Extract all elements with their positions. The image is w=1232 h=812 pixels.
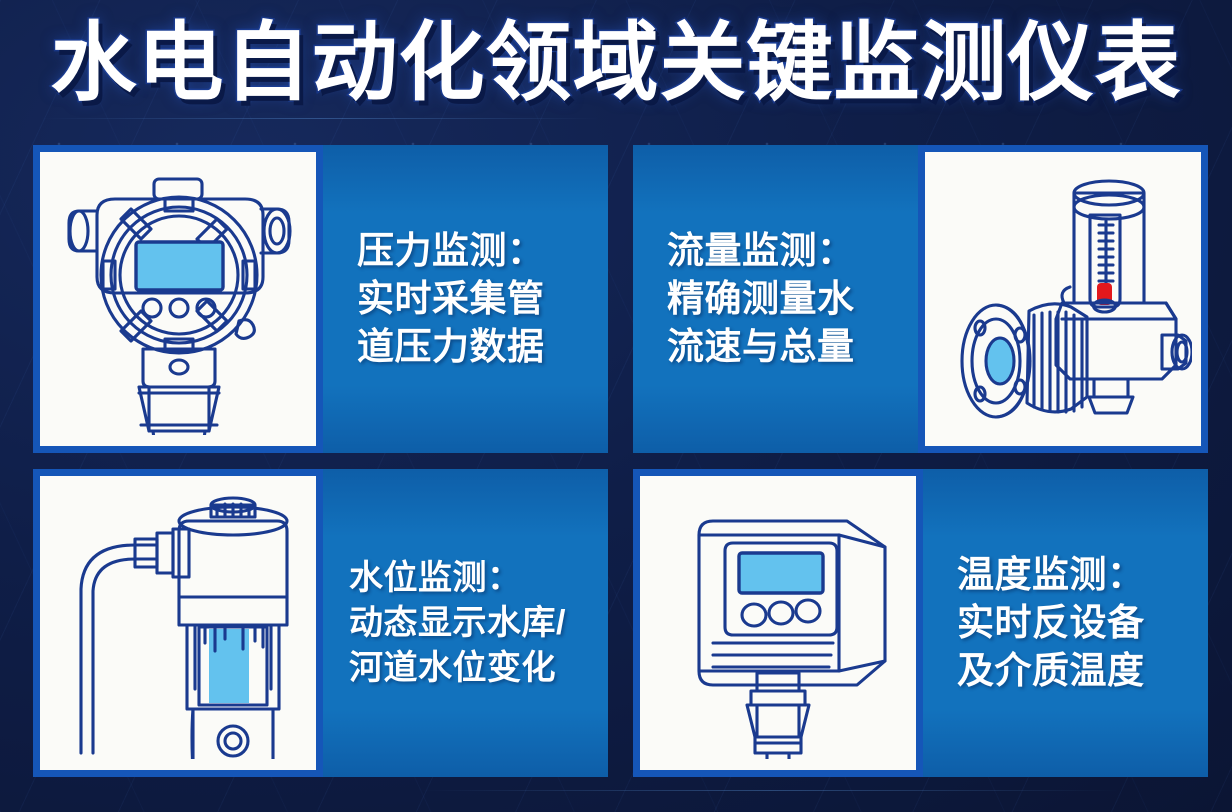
card-line: 及介质温度 [957,647,1198,695]
text-pane-flow: 流量监测： 精确测量水 流速与总量 [633,145,918,453]
background-glow-line-bottom [420,790,1120,791]
infographic-root: 水电自动化领域关键监测仪表 [0,0,1232,812]
card-flow[interactable]: 流量监测： 精确测量水 流速与总量 [633,145,1208,453]
icon-pane-temperature [633,469,923,777]
card-pressure[interactable]: 压力监测： 实时采集管 道压力数据 [33,145,608,453]
card-water-level[interactable]: 水位监测： 动态显示水库/ 河道水位变化 [33,469,608,777]
pressure-transmitter-icon [53,163,303,435]
cards-grid: 压力监测： 实时采集管 道压力数据 流量监测： 精确测量水 流速与总量 [33,145,1208,777]
title-banner: 水电自动化领域关键监测仪表 [0,4,1232,122]
card-line: 河道水位变化 [349,646,598,691]
card-line: 流速与总量 [667,323,908,371]
temperature-transmitter-icon [653,487,903,759]
text-pane-pressure: 压力监测： 实时采集管 道压力数据 [323,145,608,453]
flow-meter-icon [934,163,1192,435]
icon-pane-pressure [33,145,323,453]
icon-pane-water-level [33,469,323,777]
card-line: 水位监测： [349,556,598,601]
card-line: 动态显示水库/ [349,601,598,646]
card-line: 精确测量水 [667,275,908,323]
card-line: 流量监测： [667,227,908,275]
card-temperature[interactable]: 温度监测： 实时反设备 及介质温度 [633,469,1208,777]
card-line: 实时反设备 [957,599,1198,647]
page-title: 水电自动化领域关键监测仪表 [51,15,1182,111]
card-line: 压力监测： [357,227,598,275]
card-line: 道压力数据 [357,323,598,371]
text-pane-temperature: 温度监测： 实时反设备 及介质温度 [923,469,1208,777]
water-level-sensor-icon [53,487,303,759]
text-pane-water-level: 水位监测： 动态显示水库/ 河道水位变化 [323,469,608,777]
icon-pane-flow [918,145,1208,453]
card-line: 实时采集管 [357,275,598,323]
card-line: 温度监测： [957,551,1198,599]
